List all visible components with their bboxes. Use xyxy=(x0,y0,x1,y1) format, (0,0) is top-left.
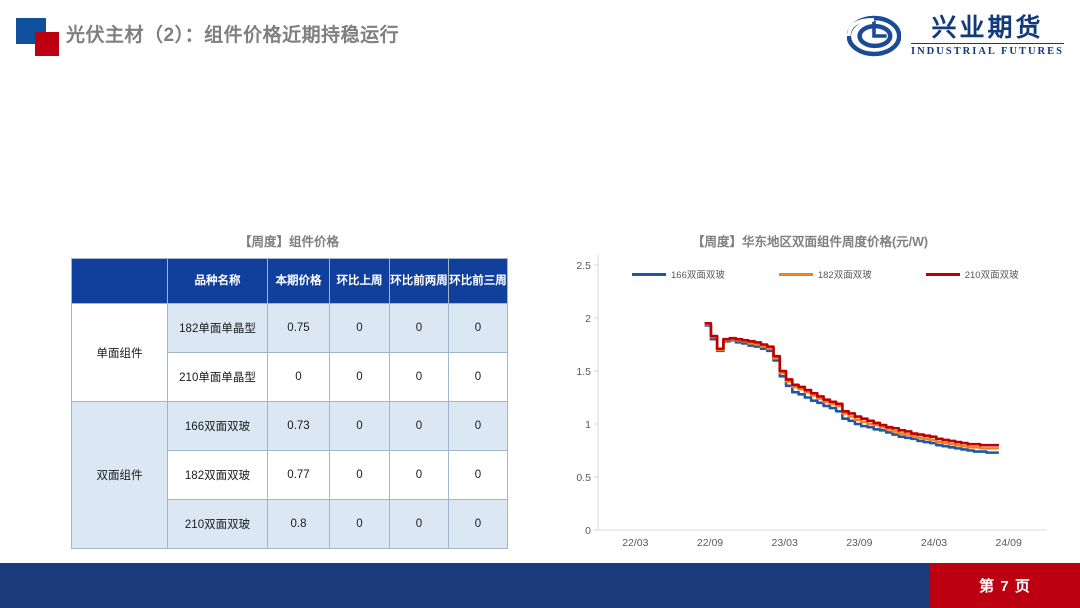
cell-wow2: 0 xyxy=(390,353,449,402)
cell-current-price: 0 xyxy=(268,353,330,402)
cell-wow: 0 xyxy=(330,304,390,353)
price-table-block: 【周度】组件价格 品种名称 本期价格 环比上周 环比前两周 环比前三周 单面组件… xyxy=(71,231,507,549)
legend-color-swatch-icon xyxy=(926,273,960,276)
cell-variety: 210双面双玻 xyxy=(168,500,268,549)
page-footer: 第 7 页 xyxy=(0,563,1080,608)
table-col-header-blank xyxy=(72,259,168,304)
cell-wow2: 0 xyxy=(390,500,449,549)
legend-item-2[interactable]: 182双面双玻 xyxy=(779,267,872,281)
legend-label: 182双面双玻 xyxy=(818,267,872,281)
group-label-bifacial: 双面组件 xyxy=(72,402,168,549)
cell-wow: 0 xyxy=(330,451,390,500)
cell-wow2: 0 xyxy=(390,304,449,353)
header-red-square-decoration xyxy=(35,32,59,56)
svg-text:1.5: 1.5 xyxy=(576,366,591,378)
table-col-header-current-price: 本期价格 xyxy=(268,259,330,304)
svg-text:1: 1 xyxy=(585,419,591,431)
cell-current-price: 0.75 xyxy=(268,304,330,353)
group-label-single-sided: 单面组件 xyxy=(72,304,168,402)
svg-text:22/09: 22/09 xyxy=(697,537,723,546)
table-col-header-wow3: 环比前三周 xyxy=(449,259,508,304)
chart-series-lines xyxy=(705,323,999,452)
legend-item-1[interactable]: 166双面双玻 xyxy=(632,267,725,281)
cell-variety: 166双面双玻 xyxy=(168,402,268,451)
table-col-header-variety: 品种名称 xyxy=(168,259,268,304)
cell-wow: 0 xyxy=(330,353,390,402)
swirl-logo-icon xyxy=(847,15,901,57)
cell-wow3: 0 xyxy=(449,451,508,500)
cell-variety: 182单面单晶型 xyxy=(168,304,268,353)
svg-text:0: 0 xyxy=(585,525,591,537)
company-logo: 兴业期货 INDUSTRIAL FUTURES xyxy=(847,8,1064,64)
legend-color-swatch-icon xyxy=(632,273,666,276)
cell-variety: 182双面双玻 xyxy=(168,451,268,500)
table-row: 单面组件 182单面单晶型 0.75 0 0 0 xyxy=(72,304,508,353)
cell-wow: 0 xyxy=(330,402,390,451)
logo-text: 兴业期货 INDUSTRIAL FUTURES xyxy=(911,15,1064,58)
cell-current-price: 0.77 xyxy=(268,451,330,500)
table-header-row: 品种名称 本期价格 环比上周 环比前两周 环比前三周 xyxy=(72,259,508,304)
svg-text:2.5: 2.5 xyxy=(576,260,591,272)
chart-legend: 166双面双玻182双面双玻210双面双玻 xyxy=(632,267,1052,281)
svg-text:2: 2 xyxy=(585,313,591,325)
footer-page-badge: 第 7 页 xyxy=(930,563,1080,608)
svg-text:24/03: 24/03 xyxy=(921,537,947,546)
page-number-label: 第 7 页 xyxy=(979,575,1031,596)
component-price-table: 品种名称 本期价格 环比上周 环比前两周 环比前三周 单面组件 182单面单晶型… xyxy=(71,258,508,549)
table-col-header-wow: 环比上周 xyxy=(330,259,390,304)
page-header: 光伏主材（2）：组件价格近期持稳运行 兴业期货 INDUSTRIAL FUTUR… xyxy=(0,0,1080,74)
cell-wow3: 0 xyxy=(449,353,508,402)
legend-label: 210双面双玻 xyxy=(965,267,1019,281)
svg-text:23/03: 23/03 xyxy=(772,537,798,546)
legend-color-swatch-icon xyxy=(779,273,813,276)
cell-wow2: 0 xyxy=(390,451,449,500)
logo-chinese-name: 兴业期货 xyxy=(931,15,1043,40)
svg-text:22/03: 22/03 xyxy=(622,537,648,546)
cell-variety: 210单面单晶型 xyxy=(168,353,268,402)
cell-wow3: 0 xyxy=(449,500,508,549)
cell-wow2: 0 xyxy=(390,402,449,451)
svg-text:0.5: 0.5 xyxy=(576,472,591,484)
legend-item-3[interactable]: 210双面双玻 xyxy=(926,267,1019,281)
cell-wow3: 0 xyxy=(449,304,508,353)
table-col-header-wow2: 环比前两周 xyxy=(390,259,449,304)
price-table-title: 【周度】组件价格 xyxy=(71,231,507,250)
cell-current-price: 0.8 xyxy=(268,500,330,549)
cell-wow: 0 xyxy=(330,500,390,549)
svg-text:24/09: 24/09 xyxy=(996,537,1022,546)
page-title: 光伏主材（2）：组件价格近期持稳运行 xyxy=(66,20,399,47)
table-row: 双面组件 166双面双玻 0.73 0 0 0 xyxy=(72,402,508,451)
legend-label: 166双面双玻 xyxy=(671,267,725,281)
footer-blue-band xyxy=(0,563,930,608)
svg-text:23/09: 23/09 xyxy=(846,537,872,546)
table-body: 单面组件 182单面单晶型 0.75 0 0 0 210单面单晶型 0 0 0 … xyxy=(72,304,508,549)
cell-wow3: 0 xyxy=(449,402,508,451)
logo-english-name: INDUSTRIAL FUTURES xyxy=(911,43,1064,58)
cell-current-price: 0.73 xyxy=(268,402,330,451)
price-chart-block: 【周度】华东地区双面组件周度价格(元/W) 00.511.522.522/032… xyxy=(560,231,1060,546)
